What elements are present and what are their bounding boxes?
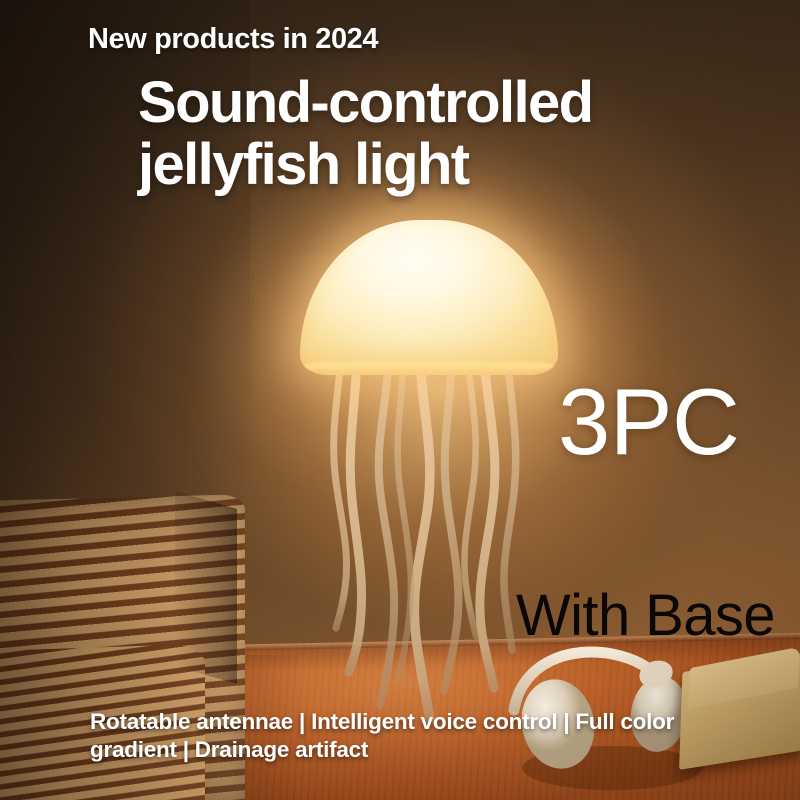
page-title: Sound-controlled jellyfish light: [138, 72, 592, 196]
product-banner-image: New products in 2024 Sound-controlled je…: [0, 0, 800, 800]
eyebrow-text: New products in 2024: [88, 23, 378, 56]
quantity-badge: 3PC: [558, 368, 739, 476]
feature-list-text: Rotatable antennae | Intelligent voice c…: [90, 708, 750, 763]
tentacle-group: [334, 358, 516, 720]
base-note-text: With Base: [516, 582, 775, 649]
jellyfish-lamp-rim: [304, 358, 554, 374]
